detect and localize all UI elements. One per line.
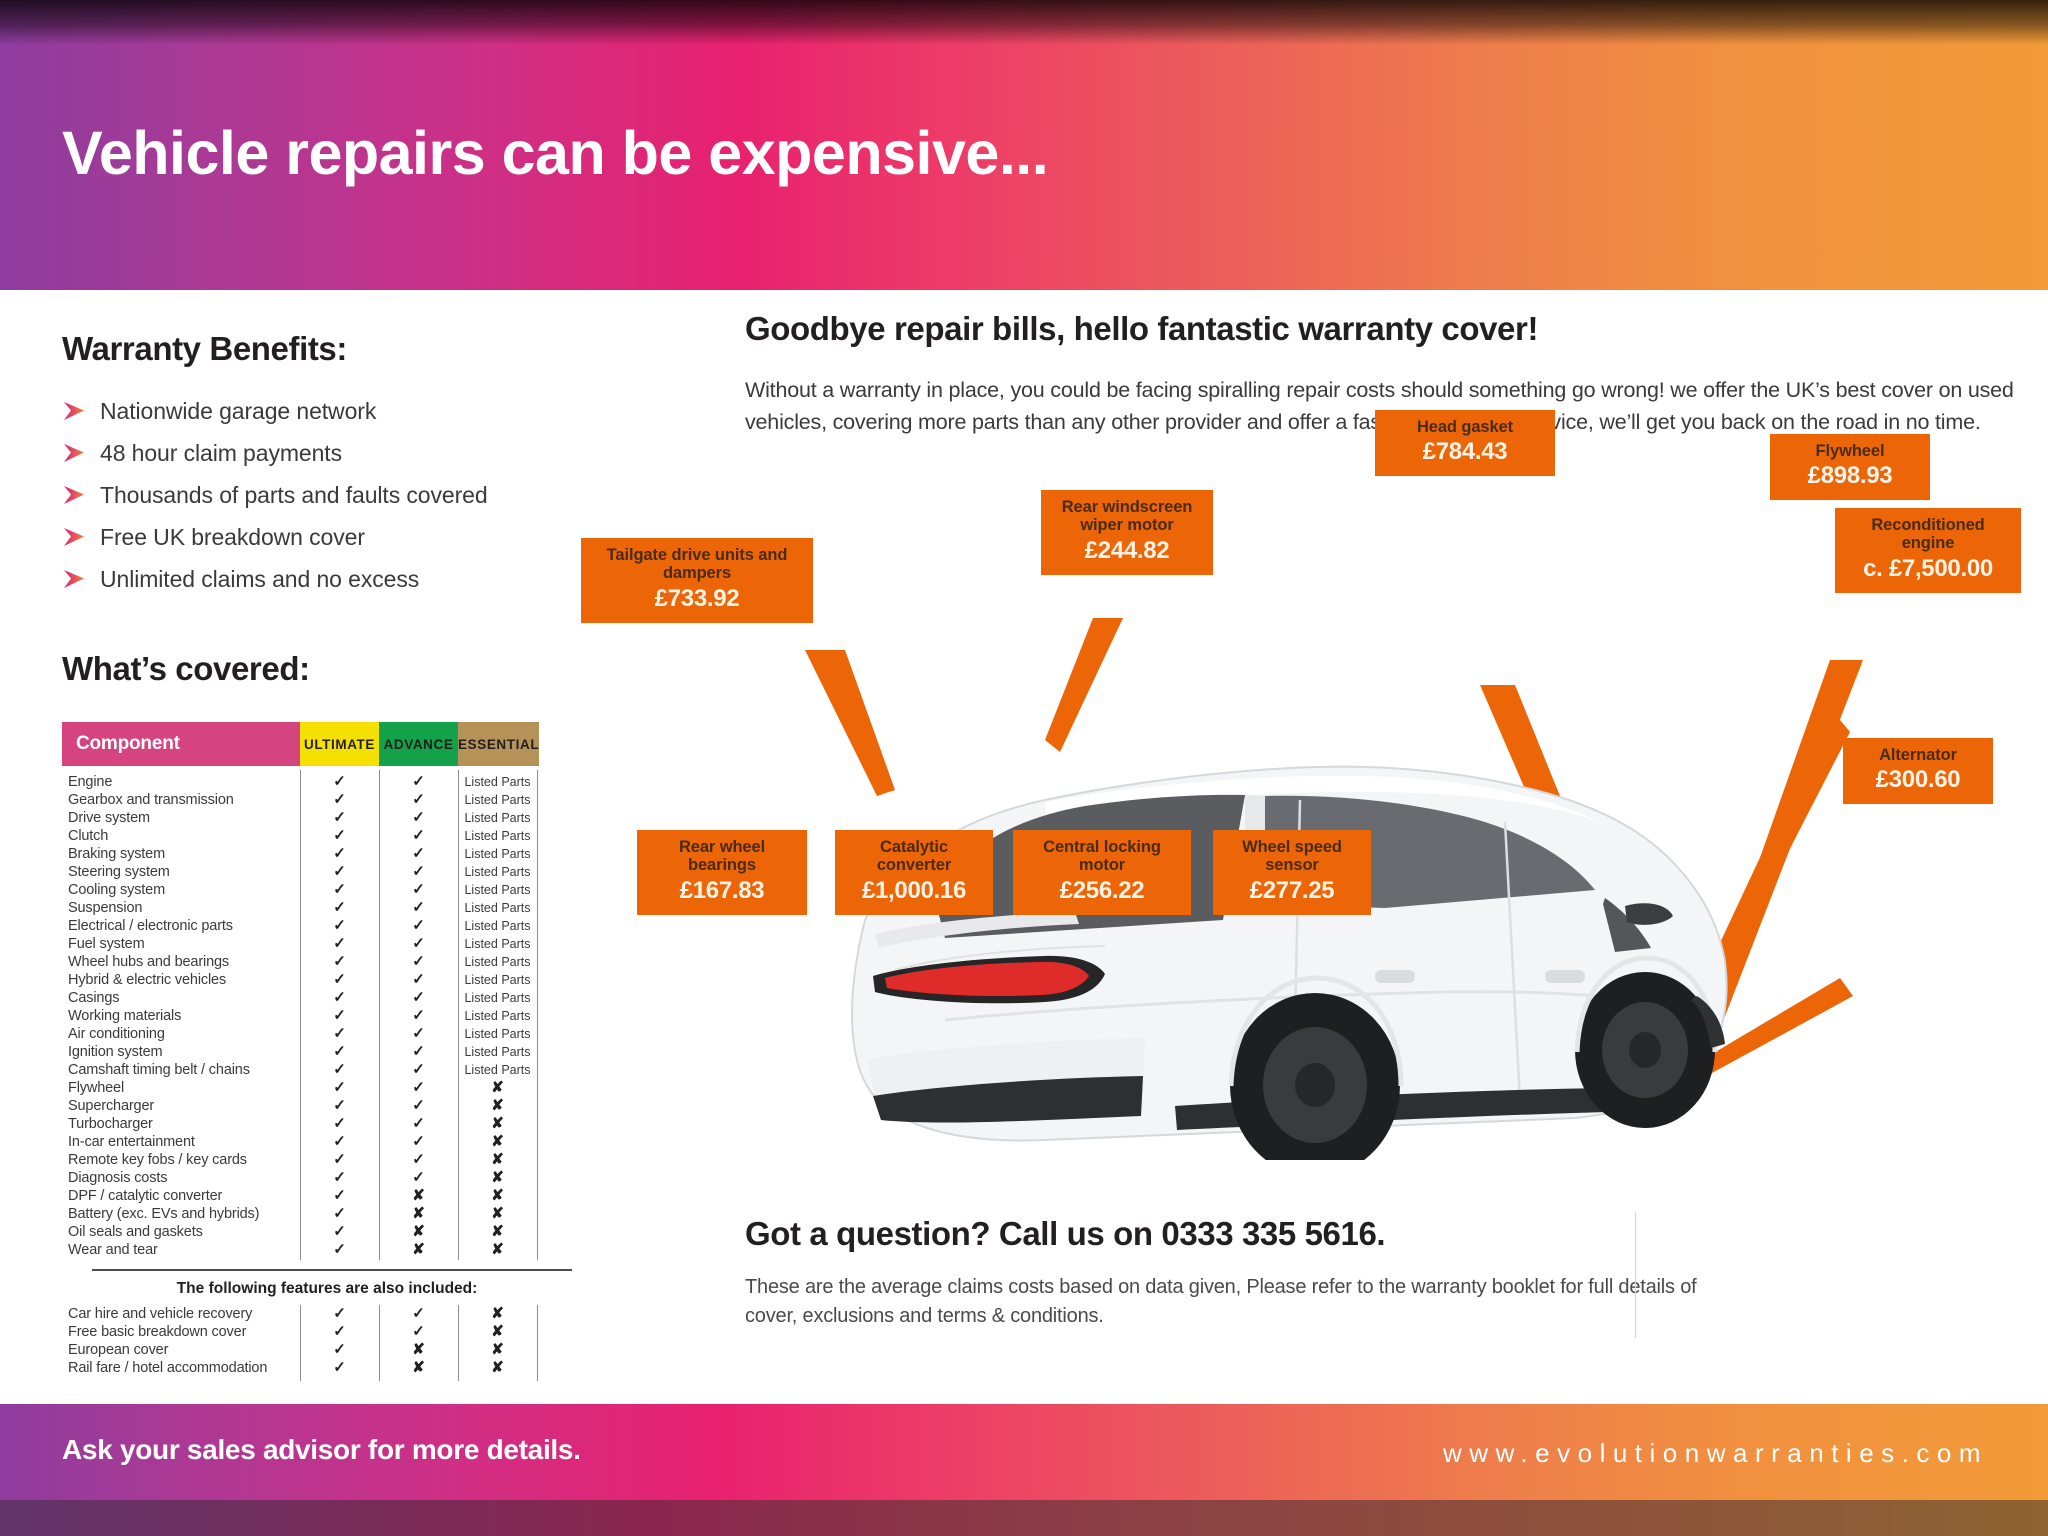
cell-ultimate: ✓ <box>300 791 379 809</box>
table-row: Turbocharger✓✓✘ <box>62 1115 632 1133</box>
chevron-right-icon <box>62 484 100 506</box>
cell-essential: Listed Parts <box>458 989 537 1007</box>
callout-price: £244.82 <box>1055 538 1199 565</box>
column-rule <box>458 1305 459 1381</box>
table-row: Diagnosis costs✓✓✘ <box>62 1169 632 1187</box>
cell-component: Wear and tear <box>62 1242 300 1258</box>
column-header-essential: ESSENTIAL <box>458 722 539 766</box>
table-row: Air conditioning✓✓Listed Parts <box>62 1025 632 1043</box>
cell-advance: ✓ <box>379 863 458 881</box>
cell-component: European cover <box>62 1342 300 1358</box>
cell-ultimate: ✓ <box>300 1025 379 1043</box>
cell-component: Rail fare / hotel accommodation <box>62 1360 300 1376</box>
cell-component: Wheel hubs and bearings <box>62 954 300 970</box>
cell-essential: Listed Parts <box>458 881 537 899</box>
coverage-table-body: Engine✓✓Listed PartsGearbox and transmis… <box>62 766 632 1259</box>
cell-component: Working materials <box>62 1008 300 1024</box>
cell-essential: Listed Parts <box>458 827 537 845</box>
warranty-benefits-list: Nationwide garage network48 hour claim p… <box>62 390 622 600</box>
cell-component: Free basic breakdown cover <box>62 1324 300 1340</box>
cell-ultimate: ✓ <box>300 1205 379 1223</box>
column-rule <box>537 770 538 1260</box>
table-row: Electrical / electronic parts✓✓Listed Pa… <box>62 917 632 935</box>
benefit-item: Free UK breakdown cover <box>62 516 622 558</box>
cell-ultimate: ✓ <box>300 1115 379 1133</box>
footer-website-url[interactable]: www.evolutionwarranties.com <box>1443 1438 1988 1469</box>
callout-catalytic-converter: Catalytic converter £1,000.16 <box>835 830 993 915</box>
column-rule <box>379 1305 380 1381</box>
cell-component: DPF / catalytic converter <box>62 1188 300 1204</box>
cell-ultimate: ✓ <box>300 1341 379 1359</box>
cell-ultimate: ✓ <box>300 1187 379 1205</box>
cell-advance: ✘ <box>379 1223 458 1241</box>
vehicle-cost-diagram: Tailgate drive units and dampers £733.92… <box>745 500 2045 1160</box>
cell-essential: ✘ <box>458 1359 537 1377</box>
cell-advance: ✘ <box>379 1241 458 1259</box>
cell-essential: Listed Parts <box>458 953 537 971</box>
cell-component: Remote key fobs / key cards <box>62 1152 300 1168</box>
cell-component: Clutch <box>62 828 300 844</box>
callout-label: Head gasket <box>1389 418 1541 436</box>
cell-ultimate: ✓ <box>300 917 379 935</box>
cell-essential: ✘ <box>458 1151 537 1169</box>
cell-component: Cooling system <box>62 882 300 898</box>
benefit-label: Thousands of parts and faults covered <box>100 482 488 509</box>
chevron-right-icon <box>62 442 100 464</box>
cell-essential: ✘ <box>458 1187 537 1205</box>
table-row: Drive system✓✓Listed Parts <box>62 809 632 827</box>
table-row: Fuel system✓✓Listed Parts <box>62 935 632 953</box>
table-row: Wear and tear✓✘✘ <box>62 1241 632 1259</box>
callout-label: Reconditioned engine <box>1849 516 2007 553</box>
callout-wheel-speed-sensor: Wheel speed sensor £277.25 <box>1213 830 1371 915</box>
cell-advance: ✓ <box>379 917 458 935</box>
cell-essential: Listed Parts <box>458 1043 537 1061</box>
cell-component: Turbocharger <box>62 1116 300 1132</box>
cell-essential: Listed Parts <box>458 935 537 953</box>
page-title: Vehicle repairs can be expensive... <box>62 118 1048 188</box>
cell-component: Casings <box>62 990 300 1006</box>
cell-essential: Listed Parts <box>458 791 537 809</box>
cell-essential: Listed Parts <box>458 899 537 917</box>
callout-label: Wheel speed sensor <box>1227 838 1357 875</box>
column-header-advance: ADVANCE <box>379 722 458 766</box>
callout-label: Flywheel <box>1784 442 1916 460</box>
cell-essential: Listed Parts <box>458 1025 537 1043</box>
callout-label: Rear windscreen wiper motor <box>1055 498 1199 535</box>
cell-advance: ✓ <box>379 1043 458 1061</box>
cell-ultimate: ✓ <box>300 773 379 791</box>
callout-rear-wiper: Rear windscreen wiper motor £244.82 <box>1041 490 1213 575</box>
callout-price: £898.93 <box>1784 463 1916 490</box>
table-row: Supercharger✓✓✘ <box>62 1097 632 1115</box>
cell-essential: ✘ <box>458 1169 537 1187</box>
chevron-right-icon <box>62 568 100 590</box>
callout-reconditioned-engine: Reconditioned engine c. £7,500.00 <box>1835 508 2021 593</box>
column-rule <box>300 770 301 1260</box>
cell-component: Fuel system <box>62 936 300 952</box>
column-rule <box>300 1305 301 1381</box>
cell-ultimate: ✓ <box>300 953 379 971</box>
callout-price: £256.22 <box>1027 878 1177 905</box>
cell-ultimate: ✓ <box>300 1061 379 1079</box>
cell-component: Ignition system <box>62 1044 300 1060</box>
benefit-item: Nationwide garage network <box>62 390 622 432</box>
whats-covered-heading: What’s covered: <box>62 650 622 688</box>
column-header-component: Component <box>62 722 300 766</box>
cell-advance: ✓ <box>379 809 458 827</box>
table-row: Battery (exc. EVs and hybrids)✓✘✘ <box>62 1205 632 1223</box>
table-row: Flywheel✓✓✘ <box>62 1079 632 1097</box>
cell-ultimate: ✓ <box>300 1169 379 1187</box>
warranty-benefits-heading: Warranty Benefits: <box>62 330 622 368</box>
lead-heading: Goodbye repair bills, hello fantastic wa… <box>745 310 2035 348</box>
column-header-ultimate: ULTIMATE <box>300 722 379 766</box>
callout-price: £167.83 <box>651 878 793 905</box>
cell-ultimate: ✓ <box>300 1359 379 1377</box>
cell-essential: Listed Parts <box>458 1061 537 1079</box>
table-row: Free basic breakdown cover✓✓✘ <box>62 1323 632 1341</box>
cell-component: Hybrid & electric vehicles <box>62 972 300 988</box>
cell-advance: ✓ <box>379 773 458 791</box>
cell-advance: ✓ <box>379 971 458 989</box>
table-row: In-car entertainment✓✓✘ <box>62 1133 632 1151</box>
callout-price: £733.92 <box>595 586 799 613</box>
cell-essential: Listed Parts <box>458 845 537 863</box>
table-row: Braking system✓✓Listed Parts <box>62 845 632 863</box>
cell-advance: ✓ <box>379 1133 458 1151</box>
table-row: Ignition system✓✓Listed Parts <box>62 1043 632 1061</box>
table-row: Gearbox and transmission✓✓Listed Parts <box>62 791 632 809</box>
cell-advance: ✓ <box>379 791 458 809</box>
cell-ultimate: ✓ <box>300 809 379 827</box>
column-rule <box>379 770 380 1260</box>
coverage-table: Component ULTIMATE ADVANCE ESSENTIAL Eng… <box>62 722 632 1377</box>
cell-essential: Listed Parts <box>458 809 537 827</box>
cell-component: Air conditioning <box>62 1026 300 1042</box>
table-row: Cooling system✓✓Listed Parts <box>62 881 632 899</box>
table-row: Car hire and vehicle recovery✓✓✘ <box>62 1305 632 1323</box>
cell-essential: ✘ <box>458 1115 537 1133</box>
cell-component: In-car entertainment <box>62 1134 300 1150</box>
cell-advance: ✓ <box>379 827 458 845</box>
cell-essential: ✘ <box>458 1097 537 1115</box>
cell-component: Oil seals and gaskets <box>62 1224 300 1240</box>
cell-essential: ✘ <box>458 1241 537 1259</box>
cell-ultimate: ✓ <box>300 935 379 953</box>
table-row: Clutch✓✓Listed Parts <box>62 827 632 845</box>
cell-essential: Listed Parts <box>458 1007 537 1025</box>
cell-component: Gearbox and transmission <box>62 792 300 808</box>
callout-flywheel: Flywheel £898.93 <box>1770 434 1930 500</box>
cell-essential: Listed Parts <box>458 773 537 791</box>
cell-component: Electrical / electronic parts <box>62 918 300 934</box>
cell-advance: ✓ <box>379 1061 458 1079</box>
cell-advance: ✘ <box>379 1341 458 1359</box>
cell-ultimate: ✓ <box>300 1043 379 1061</box>
cell-ultimate: ✓ <box>300 1151 379 1169</box>
cell-advance: ✓ <box>379 1007 458 1025</box>
chevron-right-icon <box>62 526 100 548</box>
cell-ultimate: ✓ <box>300 881 379 899</box>
cell-component: Steering system <box>62 864 300 880</box>
callout-tailgate: Tailgate drive units and dampers £733.92 <box>581 538 813 623</box>
callout-price: £1,000.16 <box>849 878 979 905</box>
footer-cta: Ask your sales advisor for more details. <box>62 1434 581 1466</box>
cell-ultimate: ✓ <box>300 1305 379 1323</box>
cell-essential: ✘ <box>458 1133 537 1151</box>
cell-ultimate: ✓ <box>300 1223 379 1241</box>
benefit-item: Unlimited claims and no excess <box>62 558 622 600</box>
cell-ultimate: ✓ <box>300 971 379 989</box>
cell-essential: Listed Parts <box>458 971 537 989</box>
callout-price: £277.25 <box>1227 878 1357 905</box>
table-row: European cover✓✘✘ <box>62 1341 632 1359</box>
header-shadow-strip <box>0 0 2048 45</box>
callout-rear-wheel-bearings: Rear wheel bearings £167.83 <box>637 830 807 915</box>
benefit-item: Thousands of parts and faults covered <box>62 474 622 516</box>
cell-advance: ✓ <box>379 899 458 917</box>
table-row: Camshaft timing belt / chains✓✓Listed Pa… <box>62 1061 632 1079</box>
cell-advance: ✘ <box>379 1359 458 1377</box>
callout-price: c. £7,500.00 <box>1849 556 2007 583</box>
cell-ultimate: ✓ <box>300 989 379 1007</box>
coverage-table-header: Component ULTIMATE ADVANCE ESSENTIAL <box>62 722 632 766</box>
benefit-label: Unlimited claims and no excess <box>100 566 419 593</box>
footer-bottom-strip <box>0 1500 2048 1536</box>
cell-advance: ✓ <box>379 1151 458 1169</box>
cell-advance: ✓ <box>379 1115 458 1133</box>
contact-divider <box>1635 1212 1636 1338</box>
cell-component: Suspension <box>62 900 300 916</box>
cell-component: Braking system <box>62 846 300 862</box>
chevron-right-icon <box>62 400 100 422</box>
table-row: DPF / catalytic converter✓✘✘ <box>62 1187 632 1205</box>
callout-central-locking: Central locking motor £256.22 <box>1013 830 1191 915</box>
cell-essential: ✘ <box>458 1341 537 1359</box>
benefit-label: Nationwide garage network <box>100 398 376 425</box>
cell-ultimate: ✓ <box>300 845 379 863</box>
cell-essential: ✘ <box>458 1223 537 1241</box>
cell-component: Supercharger <box>62 1098 300 1114</box>
benefit-label: Free UK breakdown cover <box>100 524 365 551</box>
table-row: Hybrid & electric vehicles✓✓Listed Parts <box>62 971 632 989</box>
contact-disclaimer: These are the average claims costs based… <box>745 1273 1745 1331</box>
table-row: Rail fare / hotel accommodation✓✘✘ <box>62 1359 632 1377</box>
table-row: Oil seals and gaskets✓✘✘ <box>62 1223 632 1241</box>
cell-advance: ✓ <box>379 1169 458 1187</box>
cell-ultimate: ✓ <box>300 1007 379 1025</box>
cell-ultimate: ✓ <box>300 1133 379 1151</box>
cell-advance: ✓ <box>379 1305 458 1323</box>
cell-component: Car hire and vehicle recovery <box>62 1306 300 1322</box>
table-row: Engine✓✓Listed Parts <box>62 773 632 791</box>
cell-advance: ✓ <box>379 1025 458 1043</box>
callout-price: £784.43 <box>1389 439 1541 466</box>
cell-component: Camshaft timing belt / chains <box>62 1062 300 1078</box>
cell-ultimate: ✓ <box>300 1241 379 1259</box>
cell-essential: Listed Parts <box>458 863 537 881</box>
callout-alternator: Alternator £300.60 <box>1843 738 1993 804</box>
callout-price: £300.60 <box>1857 767 1979 794</box>
cell-essential: ✘ <box>458 1079 537 1097</box>
column-rule <box>458 770 459 1260</box>
callout-label: Central locking motor <box>1027 838 1177 875</box>
cell-ultimate: ✓ <box>300 1097 379 1115</box>
cell-advance: ✓ <box>379 1079 458 1097</box>
cell-ultimate: ✓ <box>300 863 379 881</box>
benefit-label: 48 hour claim payments <box>100 440 342 467</box>
cell-essential: ✘ <box>458 1323 537 1341</box>
cell-advance: ✓ <box>379 989 458 1007</box>
cell-component: Flywheel <box>62 1080 300 1096</box>
features-title: The following features are also included… <box>72 1271 582 1305</box>
column-rule <box>537 1305 538 1381</box>
callout-label: Rear wheel bearings <box>651 838 793 875</box>
page-header: Vehicle repairs can be expensive... <box>0 0 2048 290</box>
cell-ultimate: ✓ <box>300 899 379 917</box>
table-row: Wheel hubs and bearings✓✓Listed Parts <box>62 953 632 971</box>
table-row: Casings✓✓Listed Parts <box>62 989 632 1007</box>
table-row: Suspension✓✓Listed Parts <box>62 899 632 917</box>
callout-head-gasket: Head gasket £784.43 <box>1375 410 1555 476</box>
cell-essential: ✘ <box>458 1305 537 1323</box>
cell-component: Engine <box>62 774 300 790</box>
cell-ultimate: ✓ <box>300 827 379 845</box>
contact-heading: Got a question? Call us on 0333 335 5616… <box>745 1215 1745 1253</box>
cell-ultimate: ✓ <box>300 1079 379 1097</box>
cell-ultimate: ✓ <box>300 1323 379 1341</box>
callout-label: Alternator <box>1857 746 1979 764</box>
contact-block: Got a question? Call us on 0333 335 5616… <box>745 1215 1745 1331</box>
table-row: Remote key fobs / key cards✓✓✘ <box>62 1151 632 1169</box>
left-column: Warranty Benefits: Nationwide garage net… <box>62 330 622 688</box>
benefit-item: 48 hour claim payments <box>62 432 622 474</box>
cell-advance: ✓ <box>379 953 458 971</box>
table-row: Working materials✓✓Listed Parts <box>62 1007 632 1025</box>
cell-component: Battery (exc. EVs and hybrids) <box>62 1206 300 1222</box>
cell-advance: ✓ <box>379 845 458 863</box>
cell-component: Drive system <box>62 810 300 826</box>
callout-label: Catalytic converter <box>849 838 979 875</box>
cell-advance: ✓ <box>379 1323 458 1341</box>
cell-advance: ✓ <box>379 1097 458 1115</box>
table-row: Steering system✓✓Listed Parts <box>62 863 632 881</box>
cell-essential: Listed Parts <box>458 917 537 935</box>
cell-component: Diagnosis costs <box>62 1170 300 1186</box>
cell-advance: ✓ <box>379 881 458 899</box>
callout-label: Tailgate drive units and dampers <box>595 546 799 583</box>
cell-advance: ✘ <box>379 1187 458 1205</box>
cell-advance: ✘ <box>379 1205 458 1223</box>
cell-essential: ✘ <box>458 1205 537 1223</box>
cell-advance: ✓ <box>379 935 458 953</box>
